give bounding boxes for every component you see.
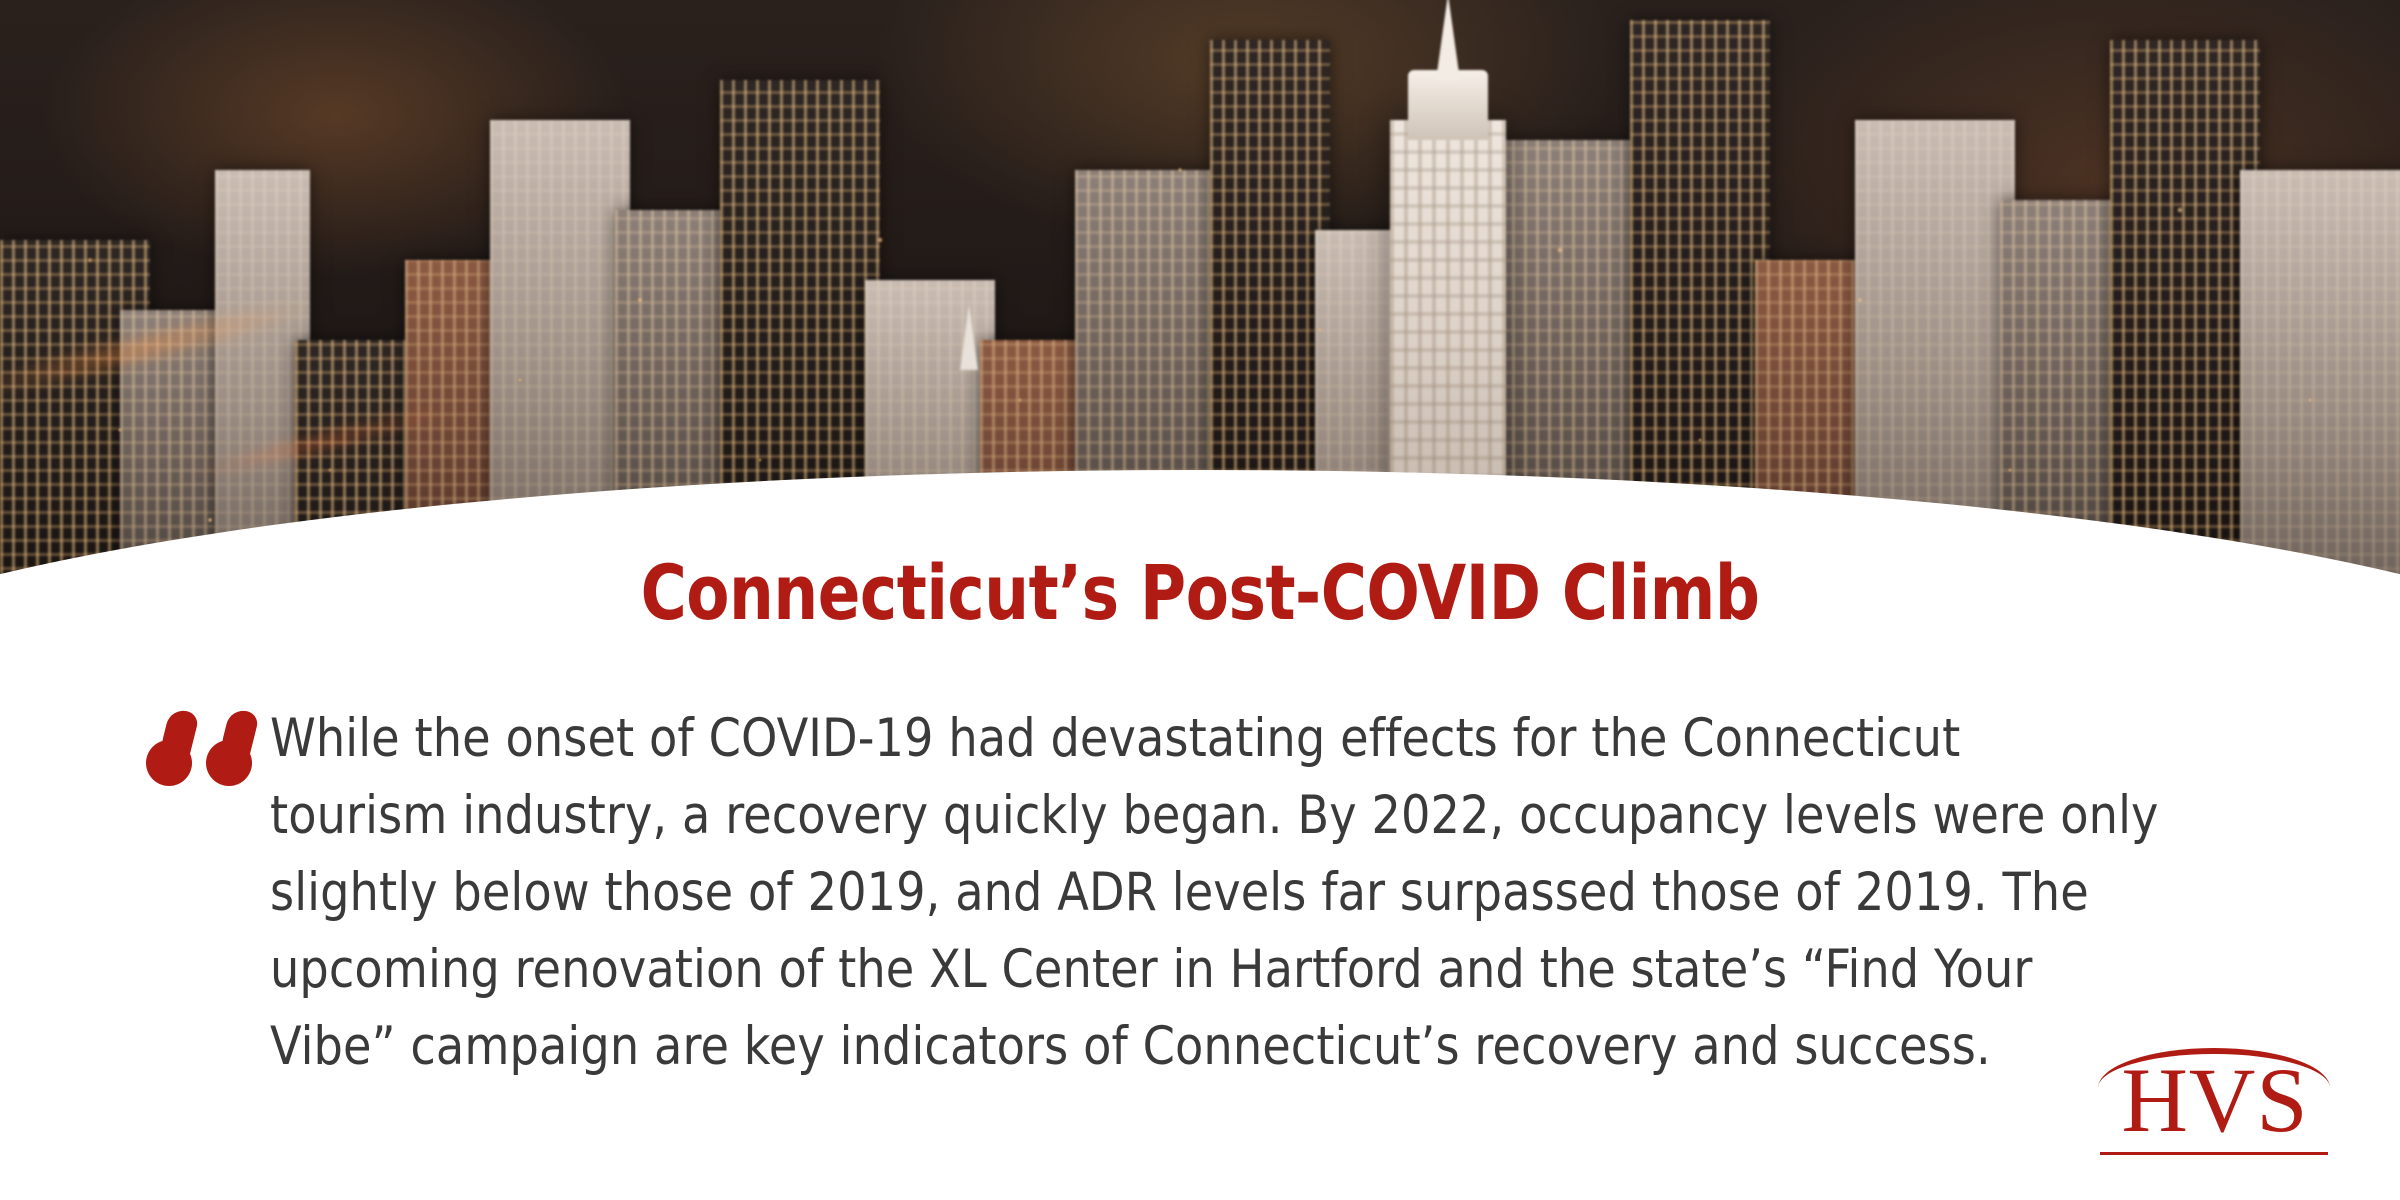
quote-line: Vibe” campaign are key indicators of Con… xyxy=(270,1008,2210,1085)
quote-line: tourism industry, a recovery quickly beg… xyxy=(270,777,2210,854)
page-title: Connecticut’s Post-COVID Climb xyxy=(96,548,2304,637)
quote-text: While the onset of COVID-19 had devastat… xyxy=(270,700,2210,1085)
pull-quote: While the onset of COVID-19 had devastat… xyxy=(140,700,2270,1085)
hvs-logo[interactable]: HVS xyxy=(2090,1048,2340,1166)
logo-rule-icon xyxy=(2100,1152,2328,1155)
content-area: Connecticut’s Post-COVID Climb While the… xyxy=(0,0,2400,1200)
quote-glyph-second xyxy=(206,710,258,788)
logo-wordmark: HVS xyxy=(2090,1054,2340,1146)
left-double-quote-icon xyxy=(140,710,270,806)
quote-line: upcoming renovation of the XL Center in … xyxy=(270,931,2210,1008)
quote-line: While the onset of COVID-19 had devastat… xyxy=(270,700,2210,777)
banner-root: Connecticut’s Post-COVID Climb While the… xyxy=(0,0,2400,1200)
quote-line: slightly below those of 2019, and ADR le… xyxy=(270,854,2210,931)
quote-glyph-first xyxy=(146,710,198,788)
